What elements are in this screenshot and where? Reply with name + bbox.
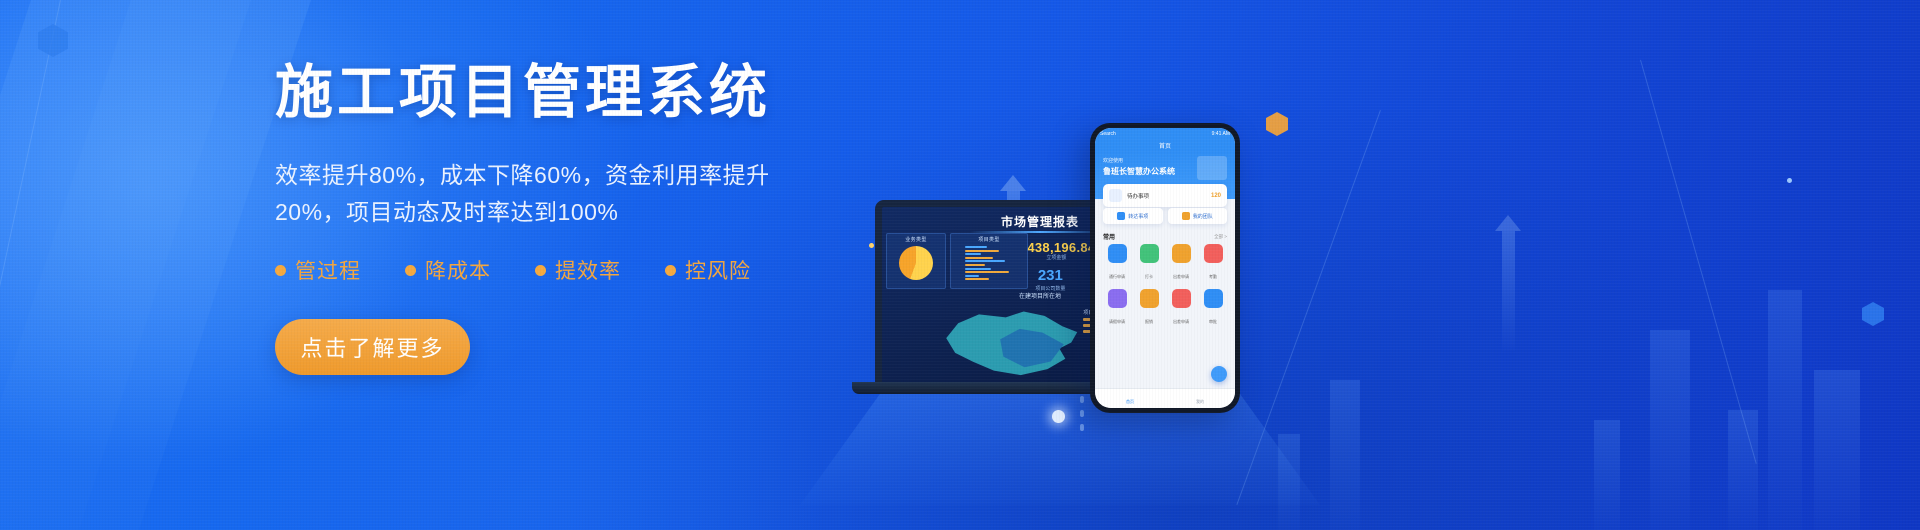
app-label: 通行申请 [1109, 274, 1125, 279]
bullet-dot-icon [405, 265, 416, 276]
send-icon [1117, 212, 1125, 220]
section-header: 常用 全部 > [1103, 232, 1227, 241]
todo-count: 120 [1211, 193, 1221, 199]
section-title: 常用 [1103, 232, 1115, 241]
feature-item-0: 管过程 [275, 255, 361, 285]
panel-title: 项目类型 [951, 236, 1027, 243]
app-item-7[interactable]: 审批 [1199, 289, 1227, 328]
bullet-dot-icon [535, 265, 546, 276]
status-bar-right: 9:41 AM [1212, 131, 1230, 137]
action-my-team[interactable]: 我的团队 [1168, 208, 1228, 224]
chart-panel-pie: 业务类型 [886, 233, 946, 289]
feature-label: 控风险 [685, 255, 751, 285]
app-label: 报销 [1145, 319, 1153, 324]
learn-more-button[interactable]: 点击了解更多 [275, 319, 470, 375]
chart-panel-bars: 项目类型 [950, 233, 1028, 289]
dot-decoration-3 [1787, 178, 1792, 183]
action-label: 我的团队 [1193, 213, 1213, 220]
panel-title: 业务类型 [887, 236, 945, 243]
app-item-0[interactable]: 通行申请 [1103, 244, 1131, 283]
feature-item-2: 提效率 [535, 255, 621, 285]
todo-label: 待办事项 [1127, 192, 1206, 200]
app-item-4[interactable]: 请假申请 [1103, 289, 1131, 328]
app-label: 请假申请 [1109, 319, 1125, 324]
feature-item-1: 降成本 [405, 255, 491, 285]
app-label: 打卡 [1145, 274, 1153, 279]
device-mockup-group: 市场管理报表 438,196.84万元 立项金额 231 项目公司数量 178 … [790, 95, 1350, 515]
phone-tab-bar: 首页 我的 [1095, 388, 1235, 408]
floating-action-button[interactable] [1211, 366, 1227, 382]
phone-quick-actions: 转达事项 我的团队 [1103, 208, 1227, 224]
document-clock-icon [1109, 189, 1122, 202]
team-icon [1182, 212, 1190, 220]
section-more-link[interactable]: 全部 > [1214, 234, 1227, 240]
app-item-2[interactable]: 出差申请 [1167, 244, 1195, 283]
phone-screen: Search 9:41 AM 首页 欢迎使用 鲁班长智慧办公系统 待办事项 12… [1095, 128, 1235, 408]
todo-card[interactable]: 待办事项 120 [1103, 184, 1227, 207]
app-grid: 通行申请 打卡 出差申请 考勤 [1103, 244, 1227, 328]
kpi-label: 立项金额 [1046, 254, 1066, 261]
app-label: 考勤 [1209, 274, 1217, 279]
app-icon [1108, 244, 1127, 263]
app-icon [1172, 244, 1191, 263]
action-label: 转达事项 [1128, 213, 1148, 220]
tab-label: 首页 [1126, 399, 1134, 404]
pie-chart [899, 246, 933, 280]
app-icon [1172, 289, 1191, 308]
app-icon [1140, 289, 1159, 308]
tab-profile[interactable]: 我的 [1196, 390, 1204, 408]
stat-value: 231 [1027, 267, 1073, 284]
feature-label: 管过程 [295, 255, 361, 285]
feature-item-3: 控风险 [665, 255, 751, 285]
stat-item-0: 231 项目公司数量 [1027, 267, 1073, 292]
app-icon [1140, 244, 1159, 263]
app-item-5[interactable]: 报销 [1135, 289, 1163, 328]
app-item-1[interactable]: 打卡 [1135, 244, 1163, 283]
device-platform-edge [800, 375, 1320, 505]
app-label: 审批 [1209, 319, 1217, 324]
promo-banner: 施工项目管理系统 效率提升80%，成本下降60%，资金利用率提升20%，项目动态… [0, 0, 1920, 530]
phone-status-bar: Search 9:41 AM [1095, 128, 1235, 139]
bullet-dot-icon [665, 265, 676, 276]
nav-title: 首页 [1159, 141, 1171, 150]
app-item-3[interactable]: 考勤 [1199, 244, 1227, 283]
subtitle-text: 效率提升80%，成本下降60%，资金利用率提升20%，项目动态及时率达到100% [275, 157, 805, 232]
app-label: 出差申请 [1173, 319, 1189, 324]
bullet-dot-icon [275, 265, 286, 276]
feature-label: 降成本 [425, 255, 491, 285]
action-forward-items[interactable]: 转达事项 [1103, 208, 1163, 224]
app-label: 出差申请 [1173, 274, 1189, 279]
app-item-6[interactable]: 出差申请 [1167, 289, 1195, 328]
phone-nav-bar: 首页 [1095, 139, 1235, 152]
feature-label: 提效率 [555, 255, 621, 285]
phone-mockup: Search 9:41 AM 首页 欢迎使用 鲁班长智慧办公系统 待办事项 12… [1090, 123, 1240, 413]
app-icon [1204, 244, 1223, 263]
status-bar-left: Search [1100, 131, 1116, 137]
hero-illustration [1197, 156, 1227, 180]
tab-label: 我的 [1196, 399, 1204, 404]
tab-home[interactable]: 首页 [1126, 390, 1134, 408]
app-icon [1204, 289, 1223, 308]
app-icon [1108, 289, 1127, 308]
horizontal-bar-chart [965, 246, 1025, 280]
up-arrow-icon-2 [1495, 215, 1521, 351]
